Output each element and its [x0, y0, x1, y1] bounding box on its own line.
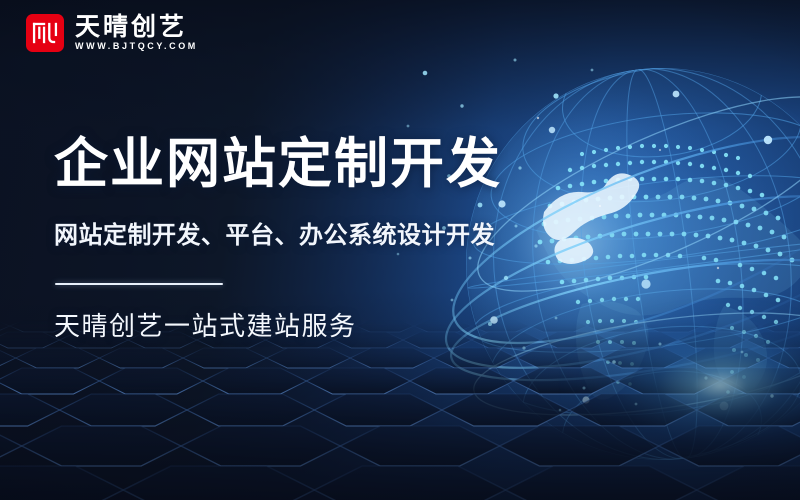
tagline: 天晴创艺一站式建站服务	[54, 311, 574, 342]
copy-block: 企业网站定制开发 网站定制开发、平台、办公系统设计开发 天晴创艺一站式建站服务	[54, 134, 574, 342]
logo-text-block: 天晴创艺 WWW.BJTQCY.COM	[75, 15, 198, 51]
brand-logo[interactable]: 天晴创艺 WWW.BJTQCY.COM	[26, 14, 198, 52]
tqcy-monogram-icon	[26, 14, 64, 52]
divider-rule	[55, 283, 223, 285]
promo-banner: 天晴创艺 WWW.BJTQCY.COM 企业网站定制开发 网站定制开发、平台、办…	[0, 0, 800, 500]
headline: 企业网站定制开发	[54, 134, 574, 194]
subheadline: 网站定制开发、平台、办公系统设计开发	[54, 222, 574, 251]
logo-website-url: WWW.BJTQCY.COM	[75, 42, 198, 51]
logo-company-name: 天晴创艺	[75, 15, 198, 40]
